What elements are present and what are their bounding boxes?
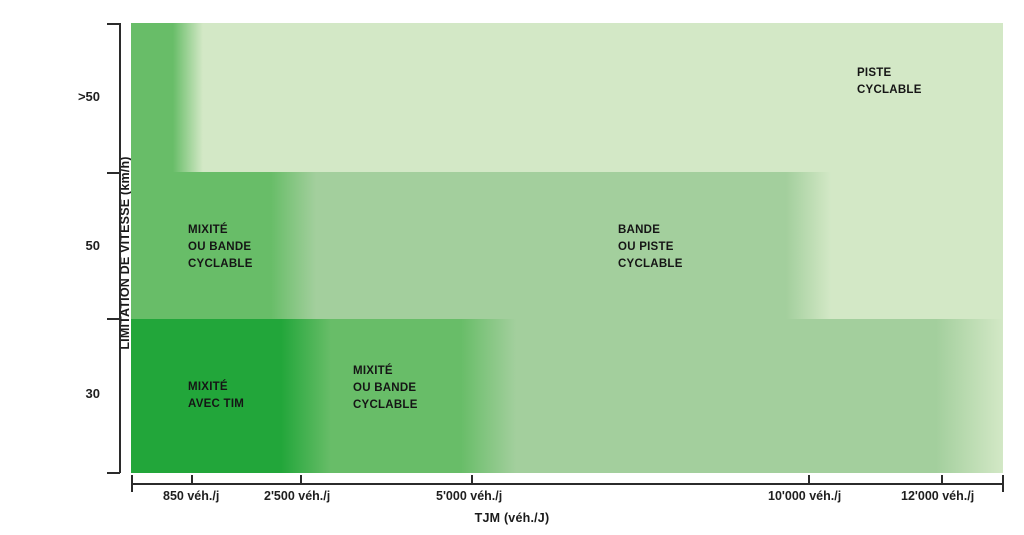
- band-speed-over-50: PISTE CYCLABLE: [131, 23, 1003, 172]
- x-axis-tick-10000: [808, 475, 810, 484]
- x-axis-tick-850: [191, 475, 193, 484]
- y-axis-line: [119, 23, 121, 473]
- band-speed-50: MIXITÉ OU BANDE CYCLABLE BANDE OU PISTE …: [131, 172, 1003, 319]
- cell-label-mixite-ou-bande-cyclable-30: MIXITÉ OU BANDE CYCLABLE: [353, 363, 418, 414]
- plot-area: PISTE CYCLABLE MIXITÉ OU BANDE CYCLABLE …: [131, 23, 1003, 473]
- x-axis-tick-5000: [471, 475, 473, 484]
- cell-label-mixite-ou-bande-cyclable-50: MIXITÉ OU BANDE CYCLABLE: [188, 222, 253, 273]
- y-tick-label-30: 30: [30, 386, 100, 401]
- x-axis-line: [131, 483, 1003, 485]
- x-axis-tick-end: [1002, 475, 1004, 492]
- cell-label-bande-ou-piste-cyclable: BANDE OU PISTE CYCLABLE: [618, 222, 683, 273]
- band-speed-30: MIXITÉ AVEC TIM MIXITÉ OU BANDE CYCLABLE: [131, 319, 1003, 473]
- x-axis-tick-12000: [941, 475, 943, 484]
- y-axis-tick-50-upper: [107, 172, 120, 174]
- x-tick-label-5000: 5'000 véh./j: [436, 489, 502, 503]
- x-tick-label-2500: 2'500 véh./j: [264, 489, 330, 503]
- x-tick-label-850: 850 véh./j: [163, 489, 219, 503]
- cell-label-mixite-avec-tim: MIXITÉ AVEC TIM: [188, 379, 244, 413]
- y-axis-tick-top: [107, 23, 120, 25]
- x-axis-tick-2500: [300, 475, 302, 484]
- cell-label-piste-cyclable: PISTE CYCLABLE: [857, 65, 922, 99]
- y-tick-label-over-50: >50: [30, 89, 100, 104]
- y-axis-tick-bottom: [107, 472, 120, 474]
- x-tick-label-12000: 12'000 véh./j: [901, 489, 974, 503]
- chart-canvas: LIMITATION DE VITESSE (km/h) >50 50 30 P…: [0, 0, 1024, 535]
- x-axis-tick-start: [131, 475, 133, 492]
- y-tick-label-50: 50: [30, 238, 100, 253]
- x-tick-label-10000: 10'000 véh./j: [768, 489, 841, 503]
- x-axis-title: TJM (véh./J): [0, 511, 1024, 525]
- y-axis-tick-30-upper: [107, 318, 120, 320]
